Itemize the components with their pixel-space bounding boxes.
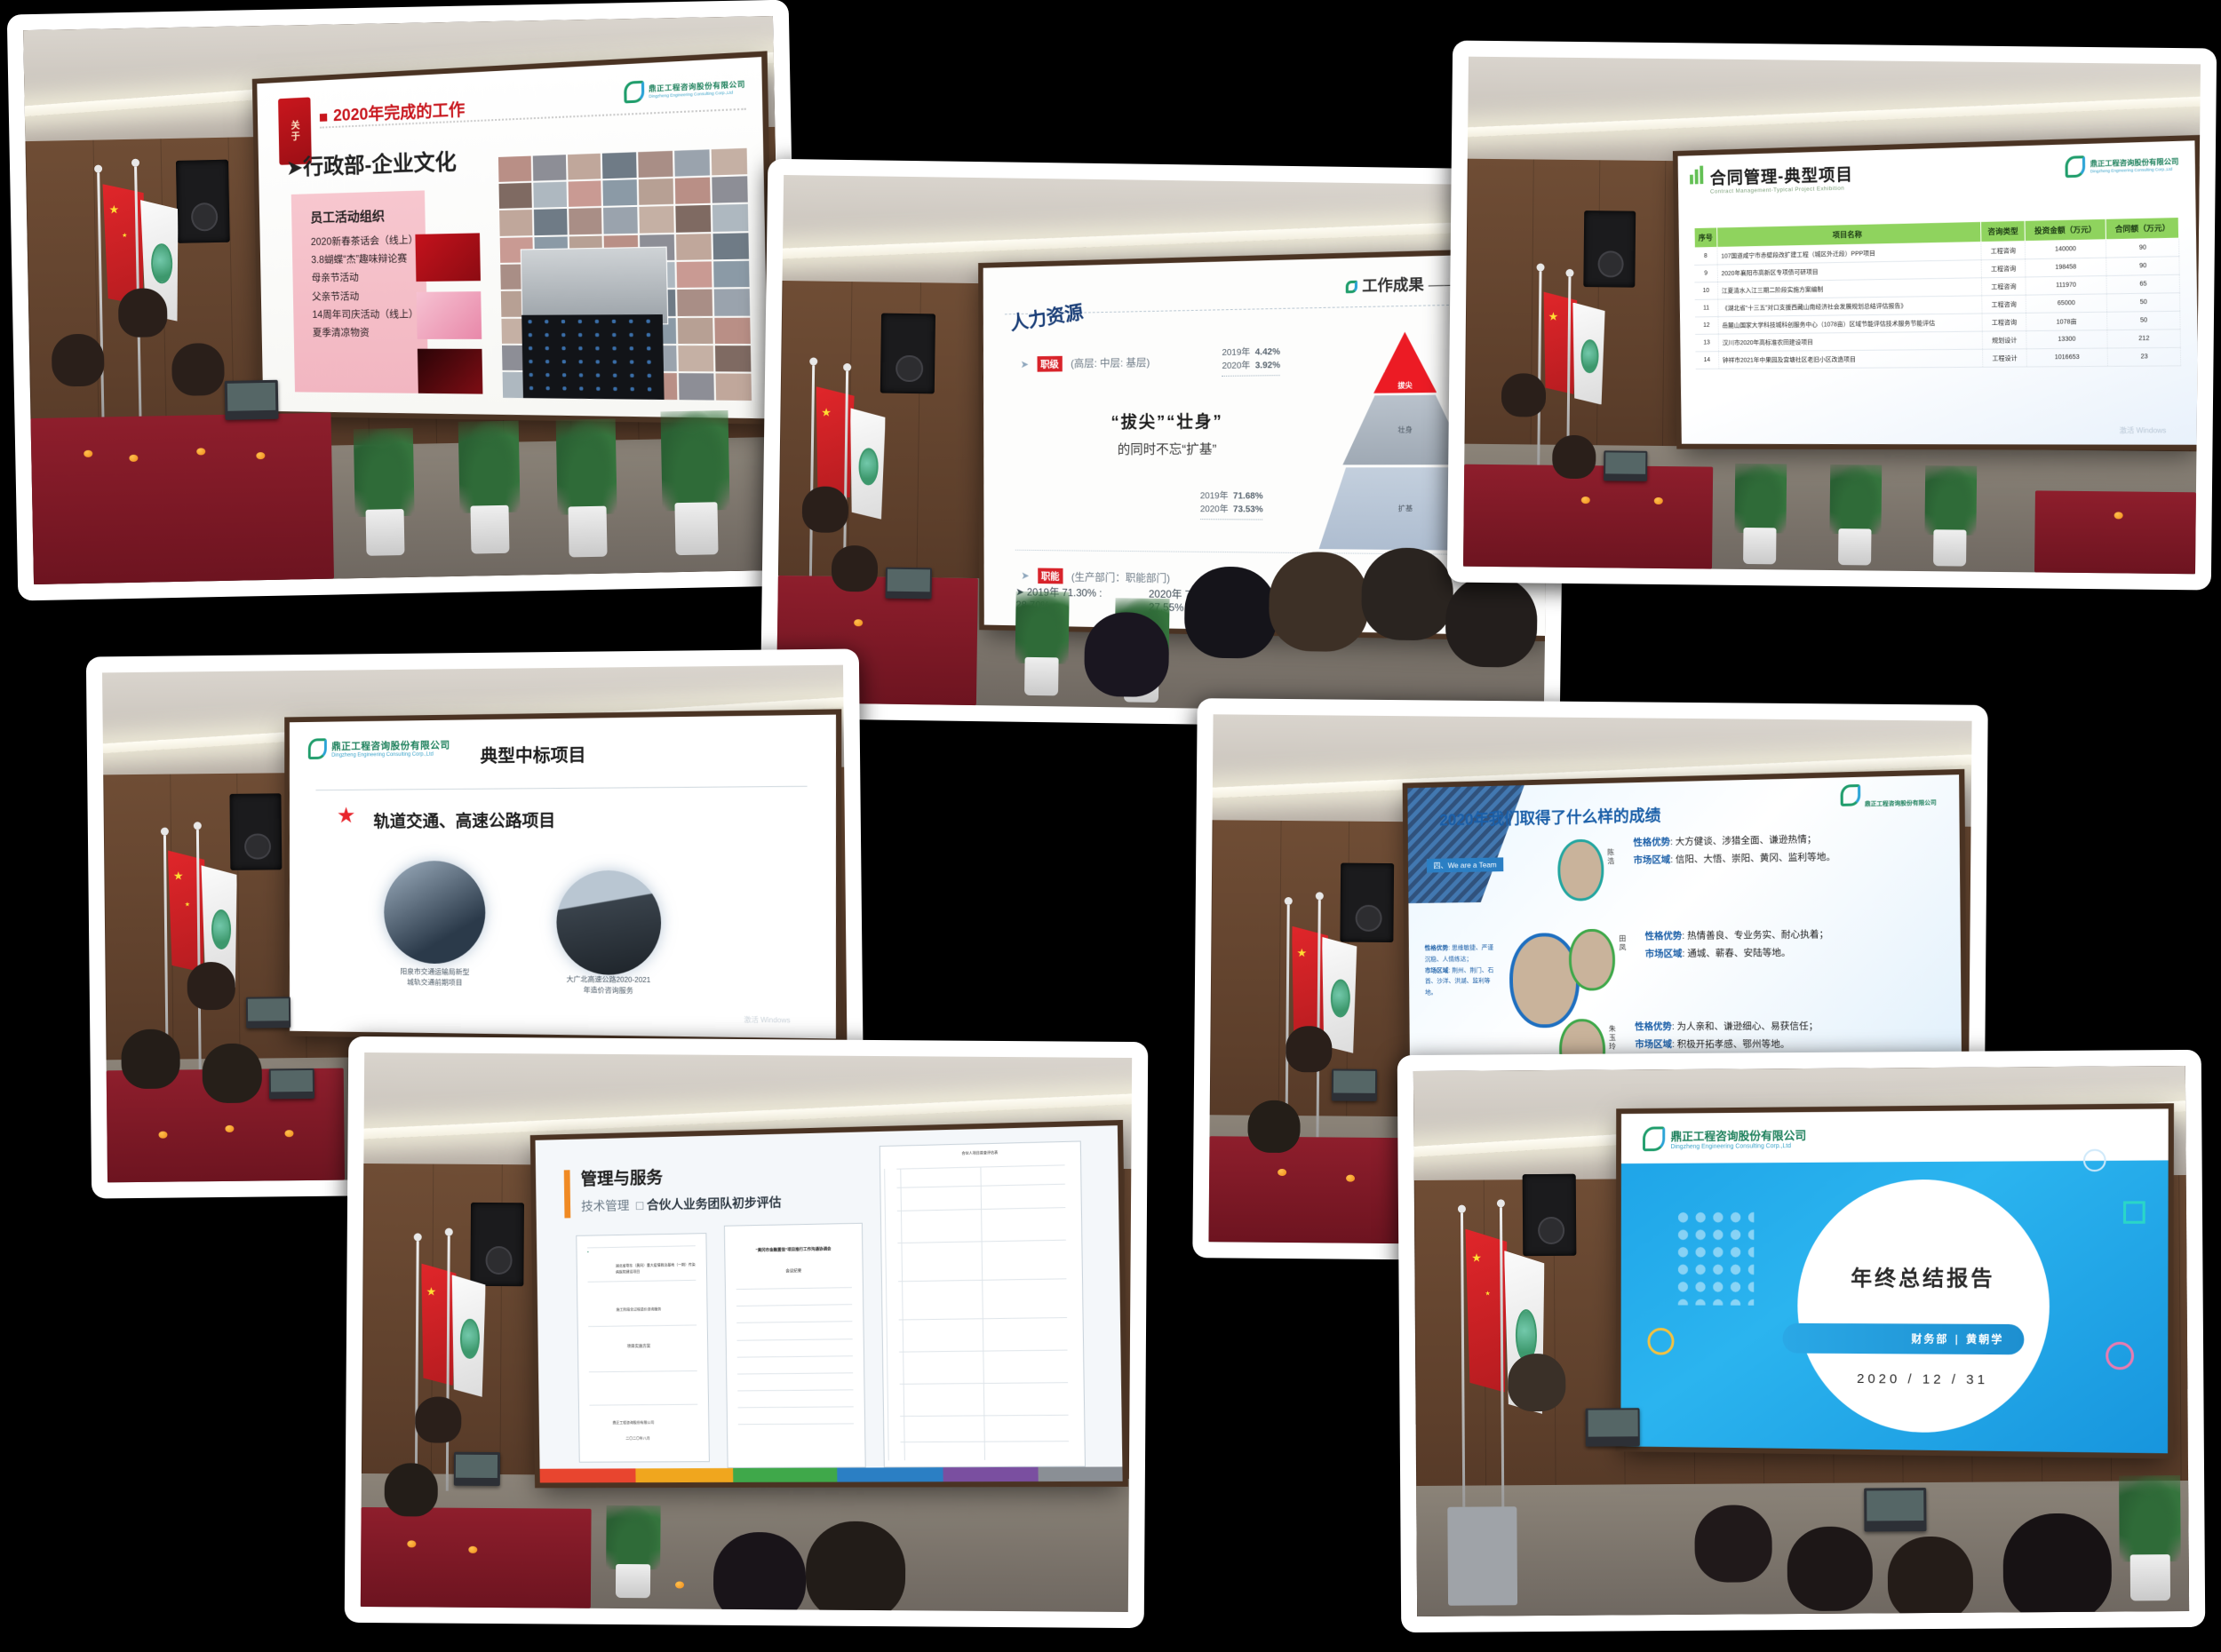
- table-cell: 90: [2106, 238, 2179, 258]
- table-cell: 50: [2106, 293, 2180, 313]
- laptop: [885, 567, 931, 599]
- projection-screen: 关于 2020年完成的工作 ➤行政部-企业文化 员工活动组织 2020新春茶话会…: [257, 57, 768, 418]
- document-title: 合伙人项目首查评估表: [880, 1148, 1080, 1158]
- table-cell: 65: [2106, 274, 2180, 294]
- project-image-rail: [384, 862, 485, 965]
- document-title: “黄冈市金融置信”项目推行工作沟通协调会: [738, 1246, 848, 1253]
- table-cell: 工程设计: [1982, 349, 2026, 368]
- potted-plant: [458, 425, 521, 554]
- laptop: [453, 1452, 499, 1486]
- mosaic-tile: [712, 176, 747, 203]
- mosaic-tile: [711, 148, 746, 176]
- potted-plant: [1924, 469, 1977, 567]
- dingzheng-logo-icon: [1840, 784, 1860, 806]
- corporate-logo: 鼎正工程咨询股份有限公司 Dingzheng Engineering Consu…: [2066, 153, 2179, 178]
- report-date: 2020 / 12 / 31: [1797, 1370, 2050, 1387]
- list-item: 2020新春茶话会（线上）: [310, 232, 405, 252]
- project-image-highway: [556, 870, 661, 975]
- col-consult-type: 咨询类型: [1980, 220, 2025, 242]
- col-invest-amount: 投资金额（万元）: [2025, 218, 2106, 241]
- potted-plant: [661, 416, 731, 555]
- potted-plant: [606, 1509, 660, 1598]
- bar-chart-icon: [1690, 165, 1703, 184]
- rank-row: ➤ 职级 (高层: 中层: 基层): [1021, 354, 1150, 372]
- table-cell: 50: [2107, 311, 2181, 330]
- member-details: 性格优势: 大方健谈、涉猎全面、谦逊热情； 市场区域: 信阳、大悟、崇阳、黄冈、…: [1633, 830, 1835, 870]
- projection-screen: 鼎正工程咨询股份有限公司 Dingzheng Engineering Consu…: [1620, 1108, 2168, 1453]
- table-row: 14钟祥市2021年中果园及宫塘社区老旧小区改造项目工程设计101665323: [1695, 347, 2181, 369]
- mosaic-tile: [603, 179, 638, 206]
- employee-activity-panel: 员工活动组织 2020新春茶话会（线上） 3.8蝴蝶“杰”趣味辩论赛 母亲节活动…: [291, 190, 428, 393]
- ring-decor-yellow: [1647, 1328, 1674, 1355]
- laptop: [225, 380, 278, 420]
- mosaic-tile: [676, 234, 712, 260]
- table-cell: 8: [1694, 247, 1717, 265]
- col-index: 序号: [1693, 227, 1716, 248]
- document-preview: “黄冈市金融置信”项目推行工作沟通协调会 会议纪要: [724, 1223, 866, 1468]
- list-item: 母亲节活动: [311, 269, 406, 289]
- mosaic-tile: [715, 374, 751, 401]
- page-subtitle: 技术管理 □ 合伙人业务团队初步评估: [581, 1194, 782, 1216]
- mosaic-tile: [713, 261, 749, 288]
- mosaic-tile: [639, 179, 673, 205]
- table-cell: 工程咨询: [1982, 295, 2026, 314]
- slide-admin-culture: 关于 2020年完成的工作 ➤行政部-企业文化 员工活动组织 2020新春茶话会…: [257, 57, 768, 418]
- table-cell: 14: [1695, 351, 1718, 369]
- photo-hr-pyramid[interactable]: ★ 工作成果 ——人才配置 人力资源 ➤ 职级: [760, 159, 1568, 730]
- member-name: 陈浩: [1605, 849, 1615, 867]
- dingzheng-logo-icon: [1346, 280, 1357, 292]
- slide-slogan: “拔尖”“壮身” 的同时不忘“扩基”: [1069, 409, 1268, 459]
- chair: [1447, 1506, 1517, 1605]
- conference-table: [361, 1507, 592, 1608]
- dingzheng-logo-icon: [2066, 155, 2086, 178]
- conference-table: [30, 412, 333, 584]
- poster-thumbnail: [417, 291, 482, 339]
- mosaic-tile: [532, 155, 566, 181]
- potted-plant: [1829, 468, 1882, 566]
- member-details: 性格优势: 热情善良、专业务实、耐心执着； 市场区域: 通城、蕲春、安陆等地。: [1644, 926, 1828, 964]
- project-caption: 阳泉市交通运输局新型 城轨交通前期项目: [371, 967, 499, 989]
- slide-headline: 2020年我们取得了什么样的成绩: [1439, 803, 1660, 830]
- mosaic-tile: [638, 151, 673, 178]
- laptop: [1586, 1408, 1640, 1446]
- member-name: 朱玉玲: [1607, 1026, 1617, 1052]
- table-cell: 65000: [2026, 294, 2107, 313]
- mosaic-tile: [533, 209, 567, 234]
- poster-thumbnail: [416, 233, 481, 282]
- presenter-badge: 财务部 | 黄朝学: [1782, 1323, 2024, 1355]
- slide-background: 年终总结报告 财务部 | 黄朝学 2020 / 12 / 31: [1620, 1161, 2168, 1453]
- mosaic-tile: [674, 149, 710, 177]
- photo-contract-projects[interactable]: ★ 合同管理-典型项目 Contract Management-Typical …: [1447, 41, 2217, 591]
- slide-year-end-report: 鼎正工程咨询股份有限公司 Dingzheng Engineering Consu…: [1620, 1108, 2168, 1453]
- table-cell: 钟祥市2021年中果园及宫塘社区老旧小区改造项目: [1718, 349, 1983, 369]
- mosaic-tile: [639, 206, 673, 233]
- mosaic-tile: [567, 154, 601, 180]
- video-grid-thumbnail: [521, 314, 664, 400]
- potted-plant: [1015, 595, 1070, 696]
- list-item: 3.8蝴蝶“杰”趣味辩论赛: [311, 250, 406, 270]
- table-cell: 13: [1695, 334, 1718, 352]
- panel-title: 员工活动组织: [310, 206, 405, 226]
- table-cell: 212: [2107, 330, 2181, 348]
- section-tag: 四、We are a Team: [1426, 858, 1503, 873]
- mosaic-tile: [712, 233, 748, 259]
- slide-management-service: 管理与服务 技术管理 □ 合伙人业务团队初步评估 ● 湖北省鄂东（黄冈）重大疫情…: [536, 1126, 1123, 1483]
- mosaic-tile: [675, 178, 711, 205]
- ring-decor-white: [2083, 1149, 2106, 1171]
- avatar: [1509, 933, 1580, 1028]
- tier-base-values: 2019年 71.68% 2020年 73.53%: [1200, 489, 1263, 520]
- table-cell: 汉川市2020年高标准农田建设项目: [1718, 331, 1983, 352]
- mosaic-tile: [499, 210, 532, 235]
- star-icon: ★: [337, 806, 356, 828]
- table-cell: 12: [1695, 316, 1718, 334]
- table-cell: 1016653: [2026, 348, 2108, 367]
- project-caption: 大广北高速公路2020-2021 年造价咨询服务: [543, 975, 675, 998]
- table-cell: 90: [2106, 256, 2180, 275]
- page-title: 管理与服务: [581, 1165, 664, 1191]
- mosaic-tile: [715, 345, 751, 372]
- accent-bar: [564, 1171, 570, 1219]
- table-cell: 10: [1694, 282, 1717, 299]
- projection-screen: 合同管理-典型项目 Contract Management-Typical Pr…: [1677, 140, 2199, 444]
- tier-top-values: 2019年 4.42% 2020年 3.92%: [1222, 345, 1280, 377]
- mosaic-tile: [569, 208, 602, 234]
- potted-plant: [1734, 467, 1787, 565]
- windows-watermark: 激活 Windows: [744, 1015, 790, 1026]
- projection-screen: 管理与服务 技术管理 □ 合伙人业务团队初步评估 ● 湖北省鄂东（黄冈）重大疫情…: [536, 1126, 1123, 1483]
- color-strip: [540, 1467, 1123, 1483]
- function-row: ➤ 职能 (生产部门：职能部门): [1021, 568, 1170, 586]
- page-title: 合同管理-典型项目: [1709, 161, 1852, 188]
- pyramid-tier-top: 拔尖: [1373, 331, 1437, 393]
- potted-plant: [354, 433, 416, 557]
- corporate-logo: 鼎正工程咨询股份有限公司: [1840, 782, 1936, 811]
- mosaic-tile: [678, 318, 713, 344]
- avatar: [1568, 929, 1615, 992]
- table-cell: 工程咨询: [1982, 313, 2026, 331]
- list-item: 14周年司庆活动（线上）: [312, 306, 407, 325]
- table-cell: 11: [1694, 299, 1717, 317]
- mosaic-tile: [676, 261, 712, 288]
- mosaic-tile: [675, 205, 711, 232]
- corporate-logo: 鼎正工程咨询股份有限公司 Dingzheng Engineering Consu…: [624, 76, 745, 104]
- photo-management-service[interactable]: ★ 管理与服务 技术管理 □ 合伙人业务团队初步评估 ● 湖北省鄂东（黄冈）重大…: [345, 1036, 1149, 1628]
- mosaic-tile: [533, 182, 567, 209]
- mosaic-tile: [603, 207, 638, 234]
- mosaic-tile: [714, 317, 750, 344]
- conference-table: [2034, 491, 2196, 575]
- table-cell: 140000: [2025, 240, 2106, 259]
- member-name: 田凤: [1617, 935, 1627, 953]
- laptop: [1864, 1488, 1926, 1532]
- slide-section-title: ➤行政部-企业文化: [286, 145, 457, 182]
- contract-projects-table: 序号 项目名称 咨询类型 投资金额（万元） 合同额（万元） 8107国道咸宁市赤…: [1693, 217, 2182, 369]
- document-preview: ● 湖北省鄂东（黄冈）重大疫情救治基地（一期）传染病医院建设项目 施工阶段全过程…: [576, 1234, 710, 1463]
- table-cell: 工程咨询: [1981, 241, 2026, 259]
- poster-thumbnail: [418, 349, 482, 393]
- projection-screen: 鼎正工程咨询股份有限公司 Dingzheng Engineering Consu…: [290, 715, 836, 1039]
- dingzheng-logo-icon: [1643, 1126, 1665, 1151]
- mosaic-tile: [498, 183, 531, 209]
- table-cell: 岳麓山国家大学科技城科创服务中心（1078亩）区域节能评估技术服务节能评估: [1718, 314, 1982, 334]
- potted-plant: [2119, 1481, 2181, 1601]
- table-cell: 工程咨询: [1981, 259, 2026, 278]
- slide-subtitle: 轨道交通、高速公路项目: [374, 807, 556, 832]
- square-decor-teal: [2123, 1202, 2145, 1224]
- table-cell: 规划设计: [1982, 330, 2026, 349]
- dingzheng-logo-icon: [624, 81, 644, 104]
- mosaic-tile: [568, 181, 601, 208]
- laptop: [269, 1068, 314, 1100]
- dingzheng-logo-icon: [308, 738, 327, 759]
- laptop: [1331, 1068, 1377, 1100]
- col-contract-amount: 合同额（万元）: [2106, 217, 2179, 239]
- member-left-details: 性格优势: 思维敏捷、严谨沉稳、人情练达； 市场区域: 荆州、荆门、石首、沙洋、…: [1424, 943, 1499, 998]
- document-preview: 合伙人项目首查评估表: [880, 1141, 1087, 1469]
- conference-table: [1463, 465, 1713, 569]
- table-cell: 工程咨询: [1981, 277, 2026, 296]
- table-cell: 111970: [2026, 275, 2107, 295]
- page-title: 年终总结报告: [1797, 1260, 2050, 1291]
- decorative-pattern: [1407, 785, 1525, 903]
- mosaic-tile: [678, 345, 713, 372]
- mosaic-tile: [677, 290, 712, 316]
- mosaic-tile: [498, 155, 531, 182]
- mosaic-tile: [679, 374, 714, 401]
- list-item: 父亲节活动: [312, 288, 407, 307]
- potted-plant: [556, 424, 618, 558]
- laptop: [1604, 450, 1648, 481]
- table-cell: 198458: [2025, 258, 2106, 277]
- table-cell: 13300: [2026, 330, 2108, 348]
- slide-winning-bids: 鼎正工程咨询股份有限公司 Dingzheng Engineering Consu…: [290, 715, 836, 1039]
- avatar: [1556, 838, 1603, 901]
- document-title: 湖北省鄂东（黄冈）重大疫情救治基地（一期）传染病医院建设项目: [616, 1261, 696, 1275]
- dot-pattern: [1674, 1209, 1754, 1306]
- laptop: [246, 997, 291, 1029]
- slide-contract-projects: 合同管理-典型项目 Contract Management-Typical Pr…: [1677, 140, 2199, 444]
- mosaic-tile: [712, 204, 747, 232]
- photo-year-end-report[interactable]: ★ ★ 鼎正工程咨询股份有限公司 Dingzheng Engineering C…: [1397, 1050, 2206, 1632]
- brush-calligraphy: 人力资源: [1008, 297, 1085, 336]
- mosaic-tile: [602, 152, 637, 179]
- mosaic-tile: [713, 290, 749, 316]
- table-cell: 9: [1694, 265, 1717, 282]
- list-item: 夏季清凉物资: [312, 324, 408, 343]
- ring-decor-pink: [2106, 1341, 2134, 1370]
- member-details: 性格优势: 为人亲和、谦逊细心、易获信任； 市场区域: 积极开拓孝感、鄂州等地。: [1635, 1018, 1819, 1053]
- page-title: 典型中标项目: [481, 741, 586, 767]
- title-oval: 年终总结报告 财务部 | 黄朝学 2020 / 12 / 31: [1797, 1179, 2050, 1434]
- photo-collage: ★ ★ 关于 2020年完成的工作 ➤行政部-企业文化 员工活动组织 202: [0, 0, 2221, 1652]
- table-cell: 1078亩: [2026, 312, 2107, 330]
- windows-watermark: 激活 Windows: [2119, 425, 2166, 435]
- table-cell: 23: [2107, 347, 2181, 366]
- photo-admin-culture[interactable]: ★ ★ 关于 2020年完成的工作 ➤行政部-企业文化 员工活动组织 202: [7, 0, 800, 600]
